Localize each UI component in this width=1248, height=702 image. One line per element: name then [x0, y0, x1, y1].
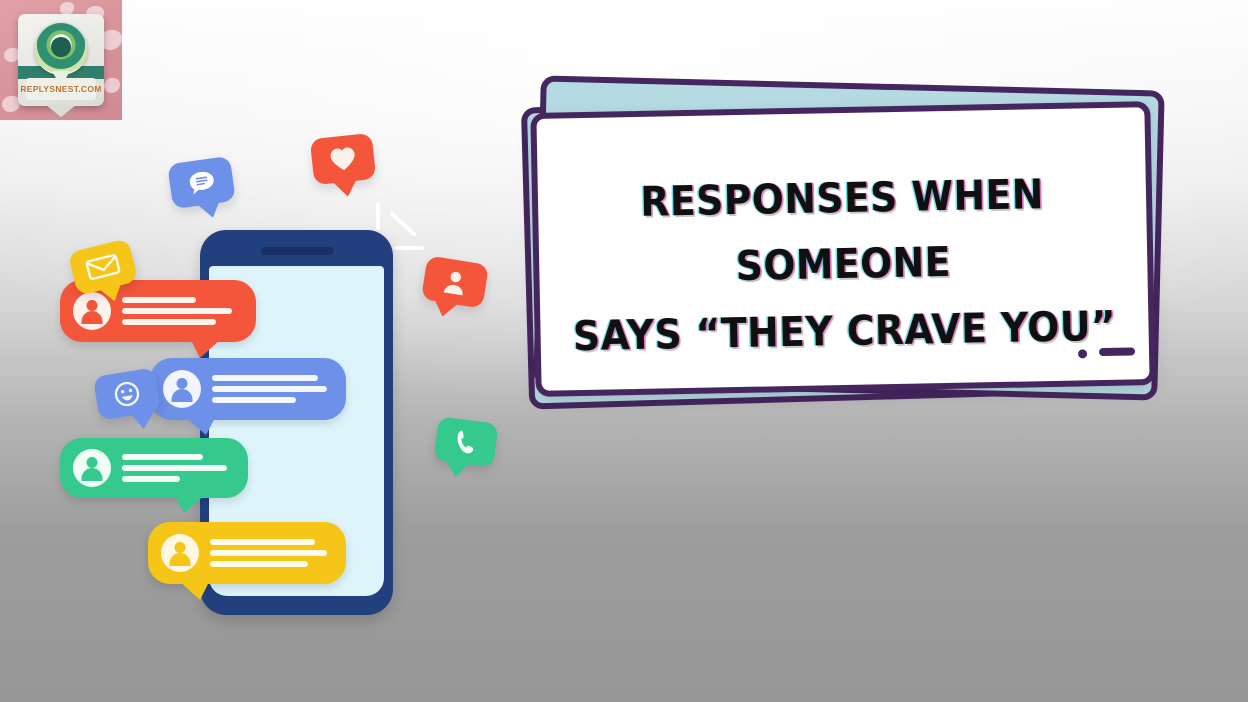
avatar: [73, 449, 111, 487]
bubble-text-lines: [122, 449, 234, 487]
bubble-tail: [178, 580, 210, 600]
avatar: [161, 534, 199, 572]
bubble-tail: [431, 297, 461, 319]
message-icon: [167, 156, 236, 209]
page-title: RESPONSES WHEN SOMEONE SAYS “THEY CRAVE …: [562, 160, 1125, 370]
phone-speaker: [260, 247, 333, 255]
location-pin-icon: [35, 23, 87, 75]
leaf-blob: [104, 78, 120, 93]
bubble-tail: [174, 494, 206, 513]
phone-call-icon: [434, 417, 499, 468]
bubble-tail: [195, 199, 223, 220]
bubble-tail: [184, 416, 216, 435]
chat-bubble-yellow: [148, 522, 346, 584]
bubble-text-lines: [210, 534, 332, 572]
watermark-text: REPLYSNEST.COM: [18, 84, 104, 94]
slide-canvas: REPLYSNEST.COM: [0, 0, 1248, 702]
person-icon: [421, 255, 489, 308]
bubble-text-lines: [212, 370, 332, 408]
title-card-stack: RESPONSES WHEN SOMEONE SAYS “THEY CRAVE …: [515, 75, 1160, 420]
chat-bubble-green: [60, 438, 248, 498]
logo-badge: REPLYSNEST.COM: [18, 14, 104, 106]
pin-center-dot: [51, 37, 71, 57]
card-mark-dash: [1099, 347, 1135, 356]
bubble-tail: [190, 338, 222, 358]
replysnest-logo: REPLYSNEST.COM: [0, 0, 122, 120]
phone-illustration: [60, 120, 530, 630]
bubble-text-lines: [122, 292, 242, 330]
title-card-front: RESPONSES WHEN SOMEONE SAYS “THEY CRAVE …: [530, 101, 1155, 397]
bubble-tail: [330, 177, 360, 199]
smiley-icon: [93, 367, 161, 420]
bubble-tail: [129, 408, 160, 431]
bubble-tail: [442, 457, 472, 478]
avatar: [163, 370, 201, 408]
heart-icon: [310, 133, 376, 185]
chat-bubble-blue: [150, 358, 346, 420]
